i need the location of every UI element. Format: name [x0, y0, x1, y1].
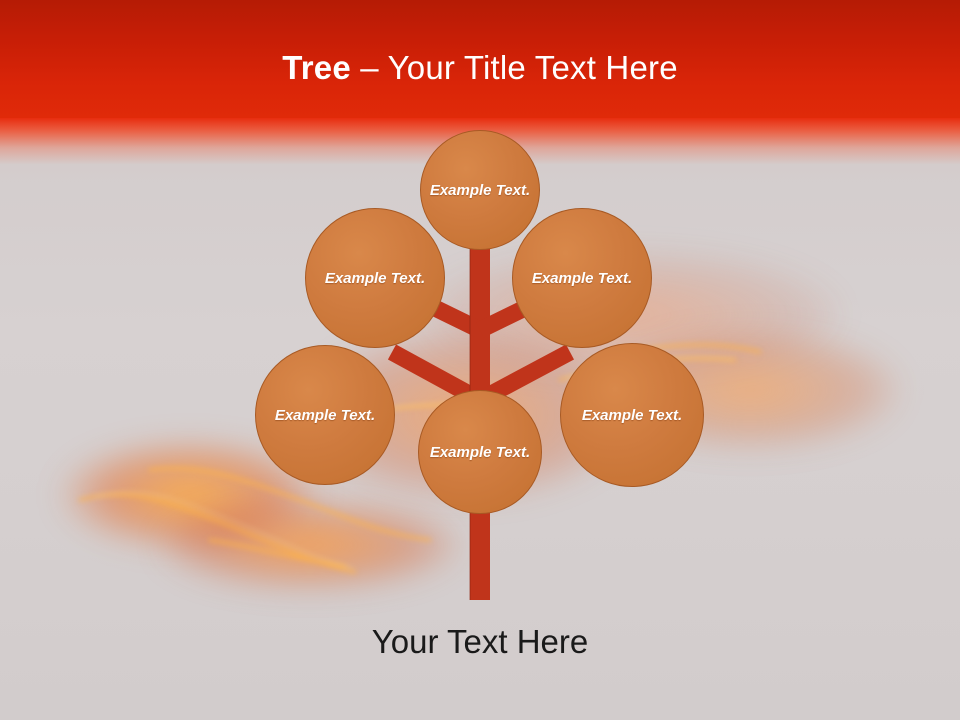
slide-canvas: Tree – Your Title Text Here Example Text…: [0, 0, 960, 720]
tree-node-upper-left-label: Example Text.: [313, 268, 437, 289]
tree-node-lower-right[interactable]: Example Text.: [560, 343, 704, 487]
tree-node-upper-right[interactable]: Example Text.: [512, 208, 652, 348]
tree-node-top-label: Example Text.: [427, 180, 533, 201]
tree-node-top[interactable]: Example Text.: [420, 130, 540, 250]
footer-text: Your Text Here: [0, 620, 960, 664]
tree-node-lower-left[interactable]: Example Text.: [255, 345, 395, 485]
tree-node-center[interactable]: Example Text.: [418, 390, 542, 514]
tree-node-center-label: Example Text.: [425, 442, 535, 463]
tree-node-upper-left[interactable]: Example Text.: [305, 208, 445, 348]
tree-node-upper-right-label: Example Text.: [520, 268, 644, 289]
tree-node-lower-left-label: Example Text.: [263, 405, 387, 426]
tree-branches: [0, 0, 960, 720]
tree-node-lower-right-label: Example Text.: [568, 405, 696, 426]
